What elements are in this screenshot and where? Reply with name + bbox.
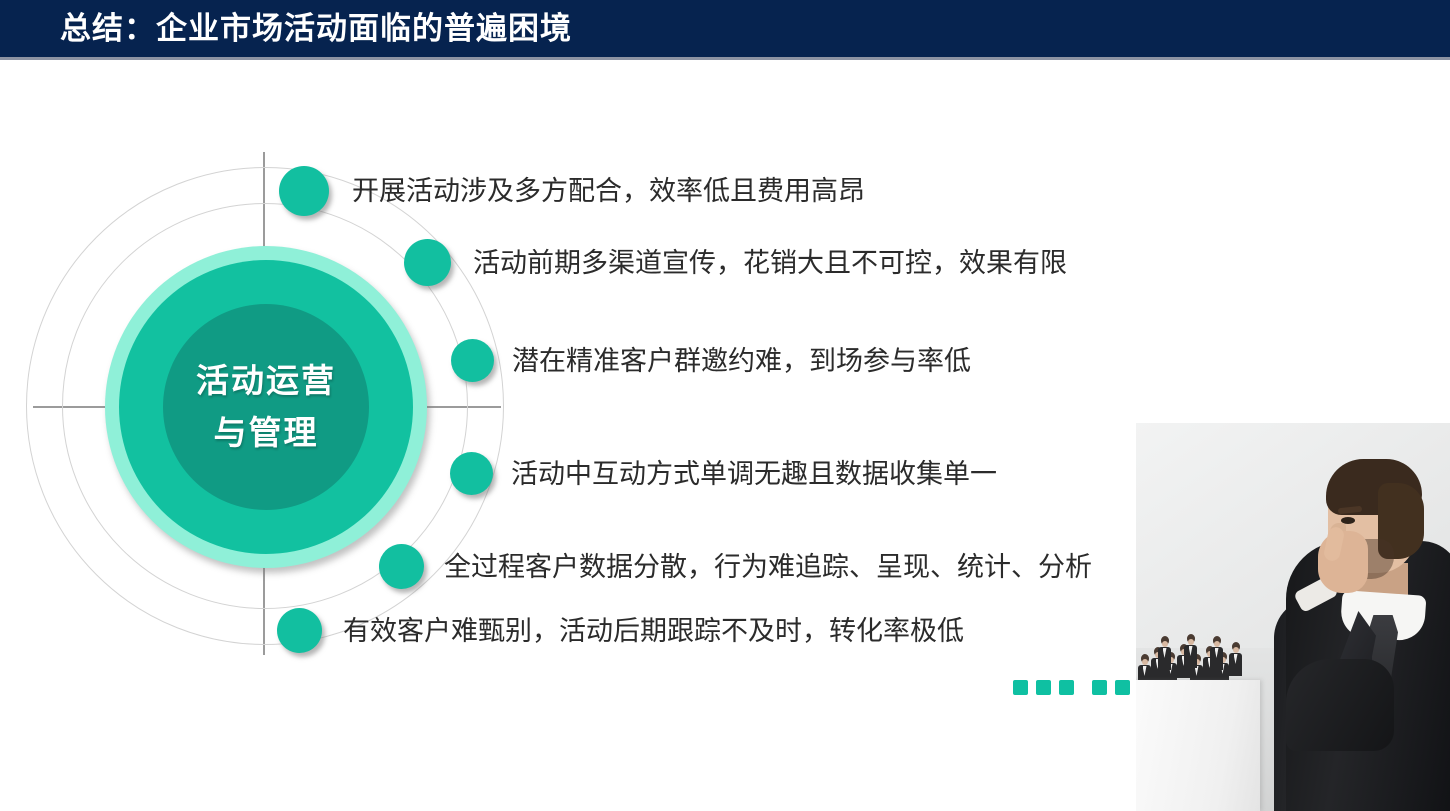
bullet-dot-icon (279, 166, 329, 216)
list-item: 开展活动涉及多方配合，效率低且费用高昂 (279, 166, 865, 216)
center-badge: 活动运营 与管理 (163, 304, 369, 510)
bullet-label: 潜在精准客户群邀约难，到场参与率低 (512, 341, 971, 381)
list-item: 活动前期多渠道宣传，花销大且不可控，效果有限 (404, 239, 1067, 286)
bullet-dot-icon (379, 544, 424, 589)
bullet-dot-icon (277, 608, 322, 653)
square-dot-icon (1036, 680, 1051, 695)
list-item: 全过程客户数据分散，行为难追踪、呈现、统计、分析 (379, 544, 1092, 589)
decorative-squares (1013, 680, 1153, 695)
center-badge-line-2: 与管理 (214, 407, 319, 459)
mini-person (1184, 634, 1197, 668)
list-item: 活动中互动方式单调无趣且数据收集单一 (450, 452, 997, 495)
bullet-label: 有效客户难甄别，活动后期跟踪不及时，转化率极低 (343, 611, 964, 651)
list-item: 潜在精准客户群邀约难，到场参与率低 (451, 339, 971, 382)
square-dot-icon (1092, 680, 1107, 695)
bullet-label: 开展活动涉及多方配合，效率低且费用高昂 (352, 171, 865, 211)
square-dot-icon (1013, 680, 1028, 695)
bullet-dot-icon (451, 339, 494, 382)
bullet-dot-icon (450, 452, 493, 495)
businessman-arm (1286, 659, 1394, 751)
center-badge-line-1: 活动运营 (196, 355, 336, 407)
bullet-label: 活动前期多渠道宣传，花销大且不可控，效果有限 (473, 243, 1067, 283)
miniature-crowd (1138, 632, 1254, 682)
bullet-label: 活动中互动方式单调无趣且数据收集单一 (511, 454, 997, 494)
decorative-square-group (1013, 680, 1074, 695)
square-dot-icon (1059, 680, 1074, 695)
bullet-dot-icon (404, 239, 451, 286)
slide-title-bar: 总结：企业市场活动面临的普遍困境 (0, 0, 1450, 57)
businessman-photo (1136, 423, 1450, 811)
list-item: 有效客户难甄别，活动后期跟踪不及时，转化率极低 (277, 608, 964, 653)
mini-person (1210, 636, 1223, 670)
bullet-label: 全过程客户数据分散，行为难追踪、呈现、统计、分析 (444, 547, 1092, 587)
slide-root: 总结：企业市场活动面临的普遍困境 活动运营 与管理 开展活动涉及多方配合，效率低… (0, 0, 1450, 811)
mini-person (1158, 636, 1171, 670)
page-title: 总结：企业市场活动面临的普遍困境 (60, 6, 572, 51)
square-dot-icon (1115, 680, 1130, 695)
title-bar-underline (0, 57, 1450, 60)
white-pedestal (1136, 680, 1260, 811)
mini-person (1229, 642, 1242, 676)
